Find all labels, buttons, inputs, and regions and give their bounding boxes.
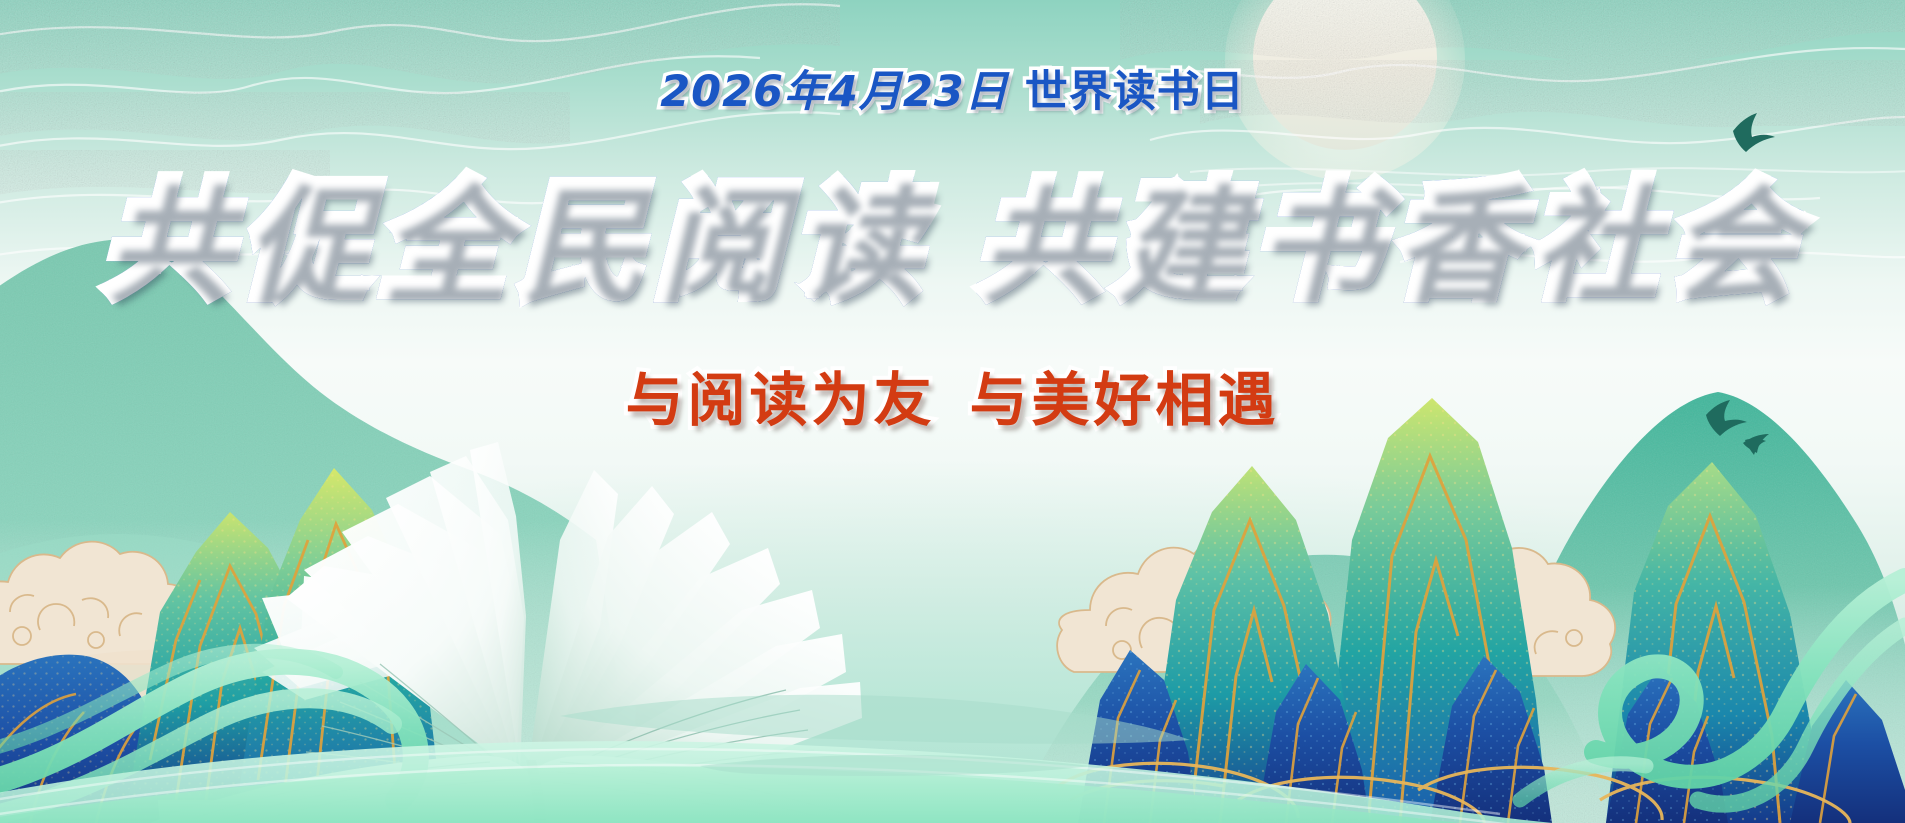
- world-book-day-banner: 2026年4月23日世界读书日 共促全民阅读共建书香社会 与阅读为友与美好相遇: [0, 0, 1905, 823]
- wave-ribbon-layer: [0, 0, 1905, 823]
- right-wave-ribbons: [1520, 580, 1905, 804]
